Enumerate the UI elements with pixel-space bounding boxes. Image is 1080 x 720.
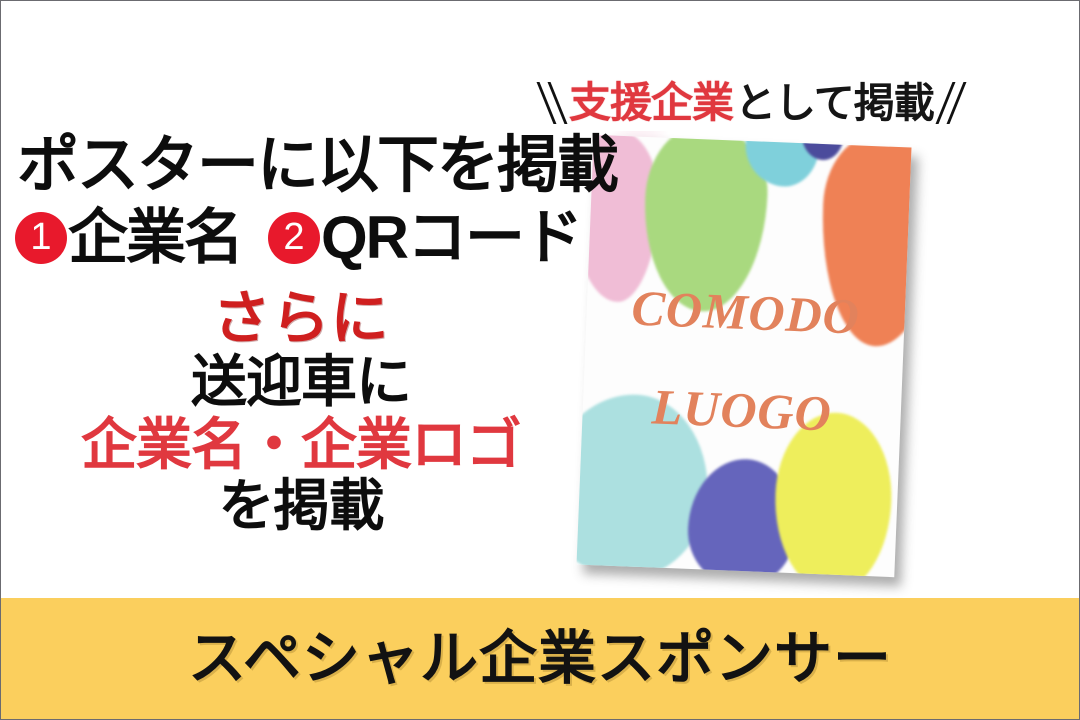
poster-card-container: COMODO LUOGO: [579, 135, 949, 583]
item-label-2: QRコード: [321, 208, 581, 268]
kicker-black-text: として掲載: [735, 83, 934, 124]
emphasis-text: さらに: [1, 289, 601, 348]
middle-line-2: 企業名・企業ロゴ: [1, 415, 601, 474]
middle-line-1: 送迎車に: [1, 352, 601, 412]
numbered-items-row: 1 企業名 2 QRコード: [15, 208, 581, 268]
badge-number-1: 1: [15, 212, 67, 264]
badge-number-2: 2: [268, 212, 320, 264]
kicker-red-text: 支援企業: [569, 82, 733, 124]
page-title: ポスターに以下を掲載: [17, 133, 617, 198]
kicker-banner: 支援企業 として掲載: [541, 73, 1071, 133]
sponsor-banner-text: スペシャル企業スポンサー: [188, 630, 892, 688]
item-label-1: 企業名: [68, 208, 242, 268]
slash-left-icon: [541, 80, 563, 126]
middle-text-column: さらに 送迎車に 企業名・企業ロゴ を掲載: [1, 289, 601, 536]
middle-line-3: を掲載: [1, 476, 601, 536]
poster-promo-canvas: 支援企業 として掲載 COMODO LUOGO ポスターに: [0, 0, 1080, 720]
poster-card: COMODO LUOGO: [576, 135, 911, 577]
slash-right-icon: [940, 80, 962, 126]
upper-white-stage: 支援企業 として掲載 COMODO LUOGO ポスターに: [1, 1, 1079, 598]
poster-title-line1: COMODO: [586, 277, 906, 348]
sponsor-banner: スペシャル企業スポンサー: [1, 598, 1079, 719]
